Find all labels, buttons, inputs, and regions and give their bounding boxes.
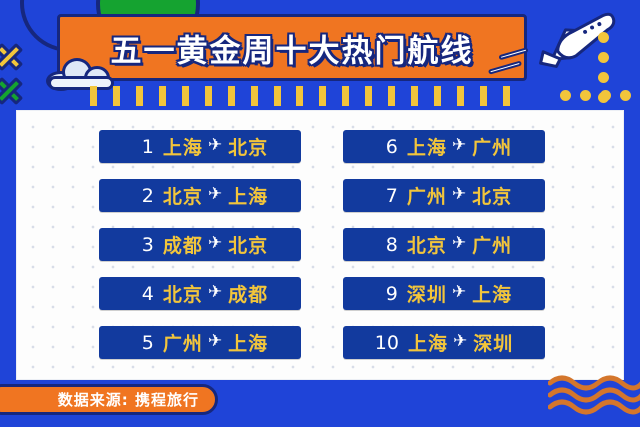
route-destination: 深圳 <box>473 329 513 356</box>
route-origin: 北京 <box>407 231 447 258</box>
route-destination: 广州 <box>472 231 512 258</box>
route-destination: 北京 <box>228 133 268 160</box>
source-badge: 数据来源: 携程旅行 <box>0 384 218 415</box>
route-origin: 广州 <box>163 329 203 356</box>
route-row: 10上海✈深圳 <box>343 326 545 359</box>
route-cities: 北京✈上海 <box>163 182 268 209</box>
route-cities: 北京✈广州 <box>407 231 512 258</box>
route-cities: 成都✈北京 <box>163 231 268 258</box>
route-cities: 上海✈北京 <box>163 133 268 160</box>
title-banner: 五一黄金周十大热门航线 <box>57 14 527 81</box>
orange-wave-lines <box>548 374 640 416</box>
route-cities: 深圳✈上海 <box>407 280 512 307</box>
route-rank: 6 <box>376 136 398 158</box>
yellow-dash-strip <box>90 86 510 106</box>
plane-icon: ✈ <box>452 235 467 252</box>
yellow-x-mark <box>0 42 24 72</box>
route-rank: 5 <box>132 332 154 354</box>
route-cities: 上海✈深圳 <box>408 329 513 356</box>
route-cities: 广州✈上海 <box>163 329 268 356</box>
plane-icon: ✈ <box>208 333 223 350</box>
route-origin: 上海 <box>163 133 203 160</box>
route-rank: 8 <box>376 234 398 256</box>
route-row: 7广州✈北京 <box>343 179 545 212</box>
route-rank: 1 <box>132 136 154 158</box>
route-origin: 上海 <box>407 133 447 160</box>
route-cities: 上海✈广州 <box>407 133 512 160</box>
plane-icon: ✈ <box>208 137 223 154</box>
route-origin: 深圳 <box>407 280 447 307</box>
green-x-mark <box>0 76 24 106</box>
route-rank: 4 <box>132 283 154 305</box>
route-destination: 广州 <box>472 133 512 160</box>
route-row: 8北京✈广州 <box>343 228 545 261</box>
route-rank: 2 <box>132 185 154 207</box>
route-rank: 3 <box>132 234 154 256</box>
plane-icon: ✈ <box>452 137 467 154</box>
route-row: 9深圳✈上海 <box>343 277 545 310</box>
routes-list: 1上海✈北京2北京✈上海3成都✈北京4北京✈成都5广州✈上海6上海✈广州7广州✈… <box>17 111 623 379</box>
cloud-icon <box>46 58 118 88</box>
yellow-dots-row <box>560 90 631 101</box>
plane-icon: ✈ <box>208 235 223 252</box>
route-rank: 7 <box>376 185 398 207</box>
route-row: 3成都✈北京 <box>99 228 301 261</box>
route-row: 1上海✈北京 <box>99 130 301 163</box>
plane-icon: ✈ <box>452 186 467 203</box>
plane-icon: ✈ <box>208 284 223 301</box>
route-destination: 上海 <box>472 280 512 307</box>
routes-card: 1上海✈北京2北京✈上海3成都✈北京4北京✈成都5广州✈上海6上海✈广州7广州✈… <box>16 110 624 380</box>
route-destination: 成都 <box>228 280 268 307</box>
route-cities: 北京✈成都 <box>163 280 268 307</box>
route-cities: 广州✈北京 <box>407 182 512 209</box>
route-origin: 广州 <box>407 182 447 209</box>
route-destination: 北京 <box>228 231 268 258</box>
route-origin: 成都 <box>163 231 203 258</box>
route-origin: 北京 <box>163 280 203 307</box>
route-rank: 10 <box>375 332 399 354</box>
route-destination: 上海 <box>228 329 268 356</box>
plane-icon: ✈ <box>208 186 223 203</box>
route-row: 6上海✈广州 <box>343 130 545 163</box>
route-row: 2北京✈上海 <box>99 179 301 212</box>
route-row: 5广州✈上海 <box>99 326 301 359</box>
route-origin: 上海 <box>408 329 448 356</box>
plane-icon: ✈ <box>452 284 467 301</box>
page-title: 五一黄金周十大热门航线 <box>60 25 524 70</box>
plane-icon: ✈ <box>453 333 468 350</box>
route-destination: 北京 <box>472 182 512 209</box>
route-rank: 9 <box>376 283 398 305</box>
route-destination: 上海 <box>228 182 268 209</box>
route-row: 4北京✈成都 <box>99 277 301 310</box>
airplane-icon <box>519 0 628 81</box>
poster-canvas: 五一黄金周十大热门航线 1上海✈北京2北京✈上海3成都✈北京4 <box>0 0 640 427</box>
route-origin: 北京 <box>163 182 203 209</box>
source-label: 数据来源: 携程旅行 <box>58 389 199 410</box>
